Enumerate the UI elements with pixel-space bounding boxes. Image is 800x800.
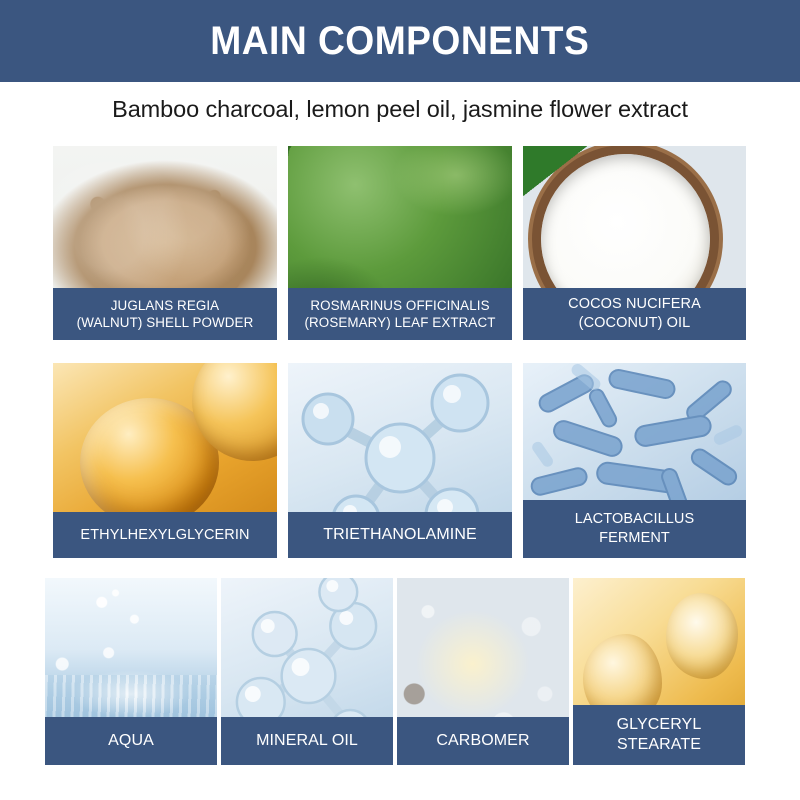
ingredient-card-aqua[interactable]: AQUA bbox=[45, 578, 217, 765]
ingredient-label: LACTOBACILLUS FERMENT bbox=[523, 500, 746, 558]
ingredient-card-glyceryl-stearate[interactable]: GLYCERYL STEARATE bbox=[573, 578, 745, 765]
label-line-1: LACTOBACILLUS bbox=[575, 511, 695, 527]
ingredient-label: GLYCERYL STEARATE bbox=[573, 705, 745, 765]
subtitle-text: Bamboo charcoal, lemon peel oil, jasmine… bbox=[0, 96, 800, 123]
ingredient-card-ethylhexylglycerin[interactable]: ETHYLHEXYLGLYCERIN bbox=[53, 363, 277, 558]
label-line-2: (COCONUT) OIL bbox=[579, 315, 691, 331]
ingredient-label: JUGLANS REGIA (WALNUT) SHELL POWDER bbox=[53, 288, 277, 340]
ingredient-card-mineral-oil[interactable]: MINERAL OIL bbox=[221, 578, 393, 765]
ingredient-card-juglans-regia[interactable]: JUGLANS REGIA (WALNUT) SHELL POWDER bbox=[53, 146, 277, 340]
ingredient-label: CARBOMER bbox=[397, 717, 569, 765]
ingredient-card-carbomer[interactable]: CARBOMER bbox=[397, 578, 569, 765]
label-line-1: ROSMARINUS OFFICINALIS bbox=[310, 298, 489, 313]
label-line-1: MINERAL OIL bbox=[256, 731, 358, 751]
ingredient-card-lactobacillus-ferment[interactable]: LACTOBACILLUS FERMENT bbox=[523, 363, 746, 558]
label-line-1: ETHYLHEXYLGLYCERIN bbox=[80, 526, 249, 545]
label-line-1: TRIETHANOLAMINE bbox=[323, 525, 477, 545]
ingredient-label: MINERAL OIL bbox=[221, 717, 393, 765]
label-line-2: STEARATE bbox=[617, 736, 701, 753]
header-bar: MAIN COMPONENTS bbox=[0, 0, 800, 82]
ingredient-label: COCOS NUCIFERA (COCONUT) OIL bbox=[523, 288, 746, 340]
ingredient-label: ETHYLHEXYLGLYCERIN bbox=[53, 512, 277, 558]
ingredient-row-3: AQUA bbox=[45, 578, 745, 765]
ingredient-card-cocos-nucifera[interactable]: COCOS NUCIFERA (COCONUT) OIL bbox=[523, 146, 746, 340]
label-line-1: GLYCERYL bbox=[617, 716, 702, 733]
main-components-infographic: MAIN COMPONENTS Bamboo charcoal, lemon p… bbox=[0, 0, 800, 800]
label-line-1: AQUA bbox=[108, 731, 154, 751]
ingredient-card-triethanolamine[interactable]: TRIETHANOLAMINE bbox=[288, 363, 512, 558]
ingredient-label: TRIETHANOLAMINE bbox=[288, 512, 512, 558]
label-line-1: COCOS NUCIFERA bbox=[568, 296, 701, 312]
ingredient-label: AQUA bbox=[45, 717, 217, 765]
page-title: MAIN COMPONENTS bbox=[211, 21, 590, 61]
label-line-2: FERMENT bbox=[599, 530, 670, 546]
ingredient-row-2: ETHYLHEXYLGLYCERIN bbox=[53, 363, 746, 558]
ingredient-card-rosmarinus-officinalis[interactable]: ROSMARINUS OFFICINALIS (ROSEMARY) LEAF E… bbox=[288, 146, 512, 340]
ingredient-row-1: JUGLANS REGIA (WALNUT) SHELL POWDER ROSM… bbox=[53, 146, 746, 340]
label-line-1: JUGLANS REGIA bbox=[111, 298, 219, 313]
label-line-2: (ROSEMARY) LEAF EXTRACT bbox=[304, 315, 495, 330]
ingredient-label: ROSMARINUS OFFICINALIS (ROSEMARY) LEAF E… bbox=[288, 288, 512, 340]
label-line-2: (WALNUT) SHELL POWDER bbox=[77, 315, 254, 330]
label-line-1: CARBOMER bbox=[436, 731, 529, 751]
